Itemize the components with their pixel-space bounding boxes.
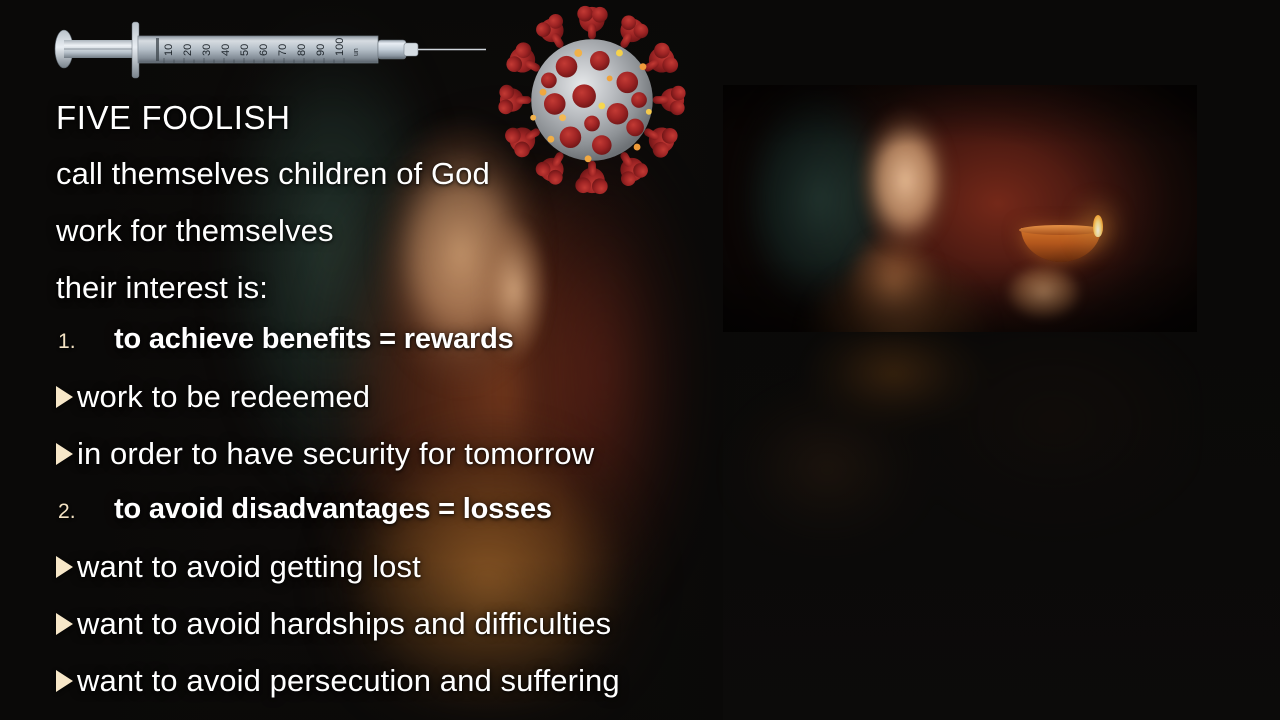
numbered-item-2: 2. to avoid disadvantages = losses (58, 493, 552, 526)
arrow-item-3-label: want to avoid getting lost (77, 549, 421, 585)
arrow-item-1: work to be redeemed (56, 379, 370, 415)
triangle-arrow-icon (56, 670, 73, 692)
arrow-item-2-label: in order to have security for tomorrow (77, 436, 594, 472)
left-line-3: their interest is: (56, 270, 268, 306)
numbered-item-2-label: to avoid disadvantages = losses (114, 493, 552, 526)
triangle-arrow-icon (56, 556, 73, 578)
arrow-item-4-label: want to avoid hardships and difficulties (77, 606, 611, 642)
arrow-item-4: want to avoid hardships and difficulties (56, 606, 611, 642)
numbered-item-1-marker: 1. (58, 330, 114, 354)
slide-canvas: 10 20 30 40 50 60 70 80 90 100 un (0, 0, 1280, 720)
left-line-2: work for themselves (56, 213, 334, 249)
numbered-item-1-label: to achieve benefits = rewards (114, 323, 514, 356)
left-heading: FIVE FOOLISH (56, 99, 291, 137)
left-text-column: FIVE FOOLISH call themselves children of… (0, 0, 700, 720)
numbered-item-1: 1. to achieve benefits = rewards (58, 323, 514, 356)
triangle-arrow-icon (56, 386, 73, 408)
arrow-item-5-label: want to avoid persecution and suffering (77, 663, 620, 699)
triangle-arrow-icon (56, 613, 73, 635)
numbered-item-2-marker: 2. (58, 500, 114, 524)
arrow-item-3: want to avoid getting lost (56, 549, 421, 585)
triangle-arrow-icon (56, 443, 73, 465)
arrow-item-2: in order to have security for tomorrow (56, 436, 594, 472)
arrow-item-5: want to avoid persecution and suffering (56, 663, 620, 699)
left-line-1: call themselves children of God (56, 156, 490, 192)
right-text-column: FIVE WISE •are children of God •work for… (700, 0, 1280, 720)
arrow-item-1-label: work to be redeemed (77, 379, 370, 415)
